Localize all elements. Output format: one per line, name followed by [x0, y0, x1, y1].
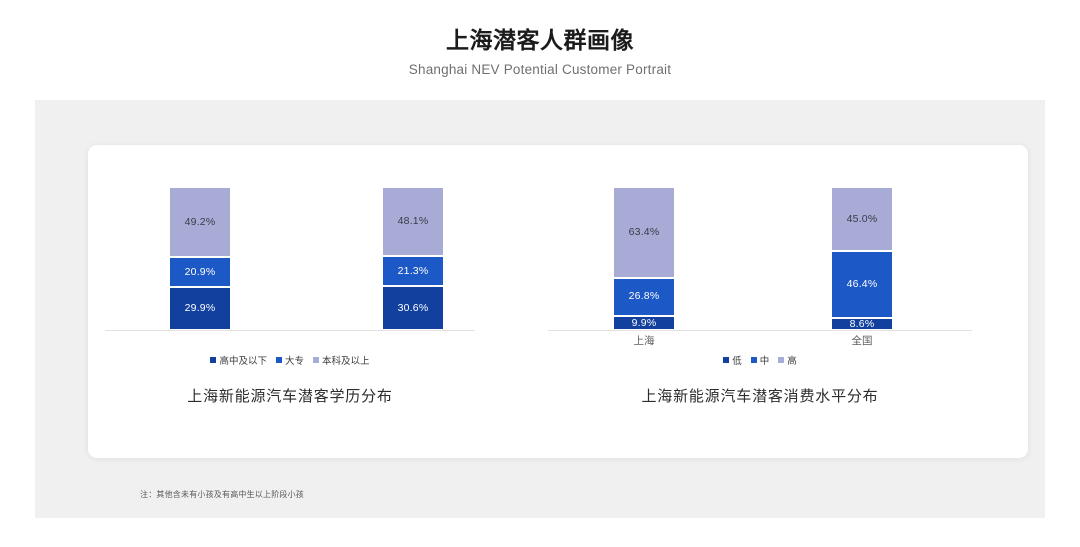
bar-segment[interactable]: 49.2%: [169, 187, 231, 257]
bar-segment[interactable]: 63.4%: [613, 187, 675, 278]
bar-segment[interactable]: 48.1%: [382, 187, 444, 256]
legend-swatch-icon: [751, 357, 757, 363]
bar-segment-label: 49.2%: [185, 217, 216, 228]
legend-swatch-icon: [276, 357, 282, 363]
stacked-bar[interactable]: 48.1%21.3%30.6%: [382, 187, 444, 330]
bar-segment-label: 46.4%: [847, 279, 878, 290]
axis-baseline: [548, 330, 972, 331]
bar-segment[interactable]: 9.9%: [613, 316, 675, 330]
x-tick-label: 全国: [831, 333, 893, 348]
stacked-bar[interactable]: 45.0%46.4%8.6%: [831, 187, 893, 330]
bar-segment[interactable]: 45.0%: [831, 187, 893, 251]
legend-item-label: 中: [760, 353, 770, 367]
legend-item-label: 高中及以下: [219, 353, 267, 367]
bar-segment-label: 29.9%: [185, 303, 216, 314]
bar-segment[interactable]: 8.6%: [831, 318, 893, 330]
bar-segment-label: 20.9%: [185, 267, 216, 278]
bar-segment-label: 8.6%: [850, 319, 875, 330]
page-subtitle: Shanghai NEV Potential Customer Portrait: [0, 55, 1080, 77]
legend-swatch-icon: [210, 357, 216, 363]
bar-segment-label: 63.4%: [629, 227, 660, 238]
chart-caption-education: 上海新能源汽车潜客学历分布: [97, 385, 483, 406]
bar-segment[interactable]: 29.9%: [169, 287, 231, 330]
legend-swatch-icon: [313, 357, 319, 363]
legend-item[interactable]: 大专: [276, 353, 304, 367]
x-axis-ticks-education: [97, 333, 483, 349]
chart-education-distribution: 49.2%20.9%29.9% 48.1%21.3%30.6% 高中及以下大专本…: [97, 145, 483, 458]
bar-segment[interactable]: 21.3%: [382, 256, 444, 286]
bar-segment[interactable]: 26.8%: [613, 278, 675, 316]
plot-area-consumption: 63.4%26.8%9.9% 45.0%46.4%8.6%: [540, 187, 980, 331]
bar-segment[interactable]: 30.6%: [382, 286, 444, 330]
chart-consumption-level-distribution: 63.4%26.8%9.9% 45.0%46.4%8.6% 上海 全国 低中高 …: [540, 145, 980, 458]
legend-item-label: 低: [732, 353, 742, 367]
bar-segment-label: 48.1%: [398, 216, 429, 227]
chart-caption-consumption: 上海新能源汽车潜客消费水平分布: [540, 385, 980, 406]
bar-segment-label: 21.3%: [398, 266, 429, 277]
legend-item-label: 高: [787, 353, 797, 367]
legend-item-label: 大专: [285, 353, 304, 367]
stacked-bar[interactable]: 49.2%20.9%29.9%: [169, 187, 231, 330]
bar-segment-label: 45.0%: [847, 214, 878, 225]
legend-swatch-icon: [723, 357, 729, 363]
legend-item[interactable]: 高中及以下: [210, 353, 267, 367]
legend-item[interactable]: 中: [751, 353, 770, 367]
bar-segment[interactable]: 46.4%: [831, 251, 893, 317]
footnote: 注：其他含未有小孩及有高中生以上阶段小孩: [140, 489, 304, 500]
stacked-bar[interactable]: 63.4%26.8%9.9%: [613, 187, 675, 330]
legend-swatch-icon: [778, 357, 784, 363]
charts-row: 49.2%20.9%29.9% 48.1%21.3%30.6% 高中及以下大专本…: [88, 145, 1028, 458]
chart-card: 49.2%20.9%29.9% 48.1%21.3%30.6% 高中及以下大专本…: [88, 145, 1028, 458]
page-header: 上海潜客人群画像 Shanghai NEV Potential Customer…: [0, 0, 1080, 77]
x-axis-ticks-consumption: 上海 全国: [540, 333, 980, 349]
legend-item-label: 本科及以上: [322, 353, 370, 367]
bar-segment-label: 9.9%: [632, 318, 657, 329]
legend-education: 高中及以下大专本科及以上: [97, 353, 483, 367]
bar-segment-label: 30.6%: [398, 303, 429, 314]
legend-item[interactable]: 高: [778, 353, 797, 367]
axis-baseline: [105, 330, 475, 331]
bar-segment-label: 26.8%: [629, 291, 660, 302]
x-tick-label: 上海: [613, 333, 675, 348]
bar-segment[interactable]: 20.9%: [169, 257, 231, 287]
legend-item[interactable]: 本科及以上: [313, 353, 370, 367]
page-title: 上海潜客人群画像: [0, 0, 1080, 55]
plot-area-education: 49.2%20.9%29.9% 48.1%21.3%30.6%: [97, 187, 483, 331]
content-panel: 49.2%20.9%29.9% 48.1%21.3%30.6% 高中及以下大专本…: [35, 100, 1045, 518]
legend-item[interactable]: 低: [723, 353, 742, 367]
legend-consumption: 低中高: [540, 353, 980, 367]
